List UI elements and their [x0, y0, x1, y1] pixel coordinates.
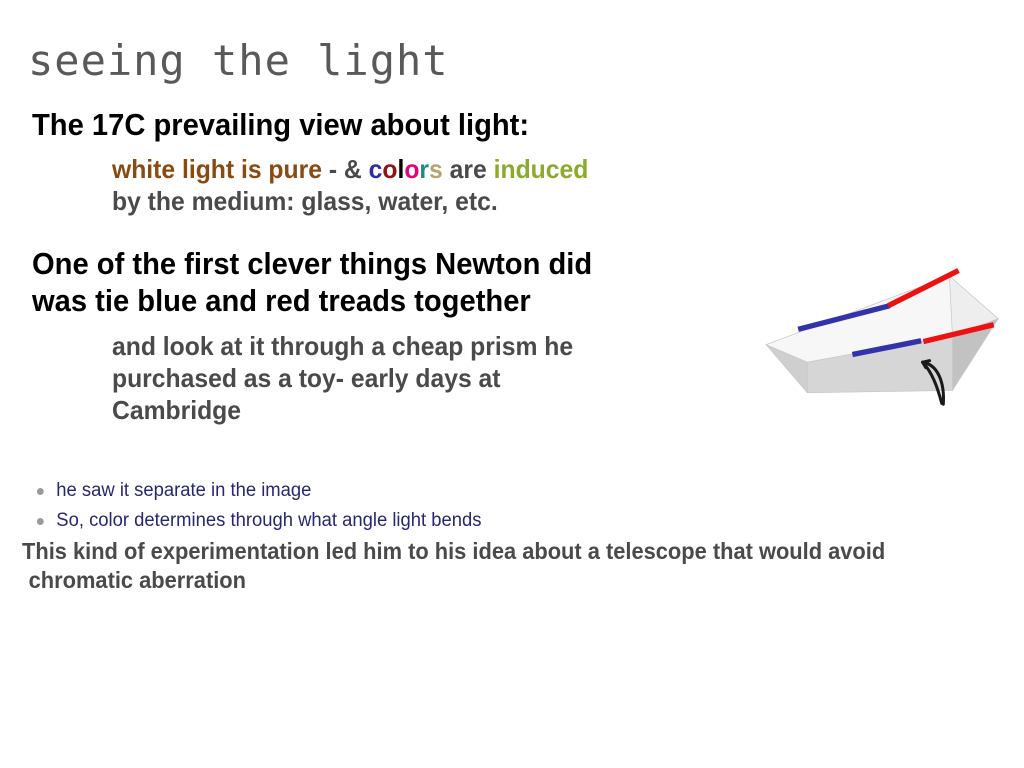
phrase-induced: induced — [494, 154, 589, 184]
bullet-dot-icon — [37, 518, 44, 525]
heading-prevailing-view: The 17C prevailing view about light: — [32, 106, 529, 143]
bottom-conclusion-line-1: This kind of experimentation led him to … — [22, 537, 885, 566]
prism-description-line-3: Cambridge — [112, 394, 573, 426]
phrase-white-light-is-pure: white light is pure — [112, 154, 322, 184]
letter-c: c — [369, 154, 383, 184]
letter-s: s — [429, 154, 443, 184]
bottom-conclusion-line-2: chromatic aberration — [22, 566, 885, 595]
list-item-label: he saw it separate in the image — [56, 480, 311, 501]
observation-bullet-list: he saw it separate in the image So, colo… — [34, 476, 495, 536]
heading-newton-experiment-line-1: One of the first clever things Newton di… — [32, 245, 592, 282]
letter-r: r — [419, 154, 429, 184]
list-item-label: So, color determines through what angle … — [56, 510, 481, 531]
list-item: So, color determines through what angle … — [34, 506, 481, 536]
prism-description-line-1: and look at it through a cheap prism he — [112, 330, 573, 362]
heading-newton-experiment: One of the first clever things Newton di… — [32, 245, 592, 319]
letter-l: l — [397, 154, 404, 184]
letter-o-2: o — [404, 154, 419, 184]
slide-canvas: seeing the light The 17C prevailing view… — [0, 0, 1024, 768]
list-item: he saw it separate in the image — [34, 476, 481, 506]
colored-statement-block: white light is pure - & colors are induc… — [112, 153, 588, 217]
heading-newton-experiment-line-2: was tie blue and red treads together — [32, 282, 592, 319]
phrase-are: are — [443, 154, 494, 184]
bullet-dot-icon — [37, 488, 44, 495]
prism-description-block: and look at it through a cheap prism he … — [112, 330, 573, 426]
prism-illustration — [760, 228, 1012, 420]
phrase-dash-amp: - & — [322, 154, 369, 184]
slide-title: seeing the light — [28, 36, 449, 85]
word-colors: colors — [369, 154, 443, 184]
prism-description-line-2: purchased as a toy- early days at — [112, 362, 573, 394]
colored-statement-line-2: by the medium: glass, water, etc. — [112, 185, 588, 217]
bottom-conclusion-note: This kind of experimentation led him to … — [22, 537, 885, 595]
colored-statement-line-1: white light is pure - & colors are induc… — [112, 153, 588, 185]
letter-o-1: o — [382, 154, 397, 184]
